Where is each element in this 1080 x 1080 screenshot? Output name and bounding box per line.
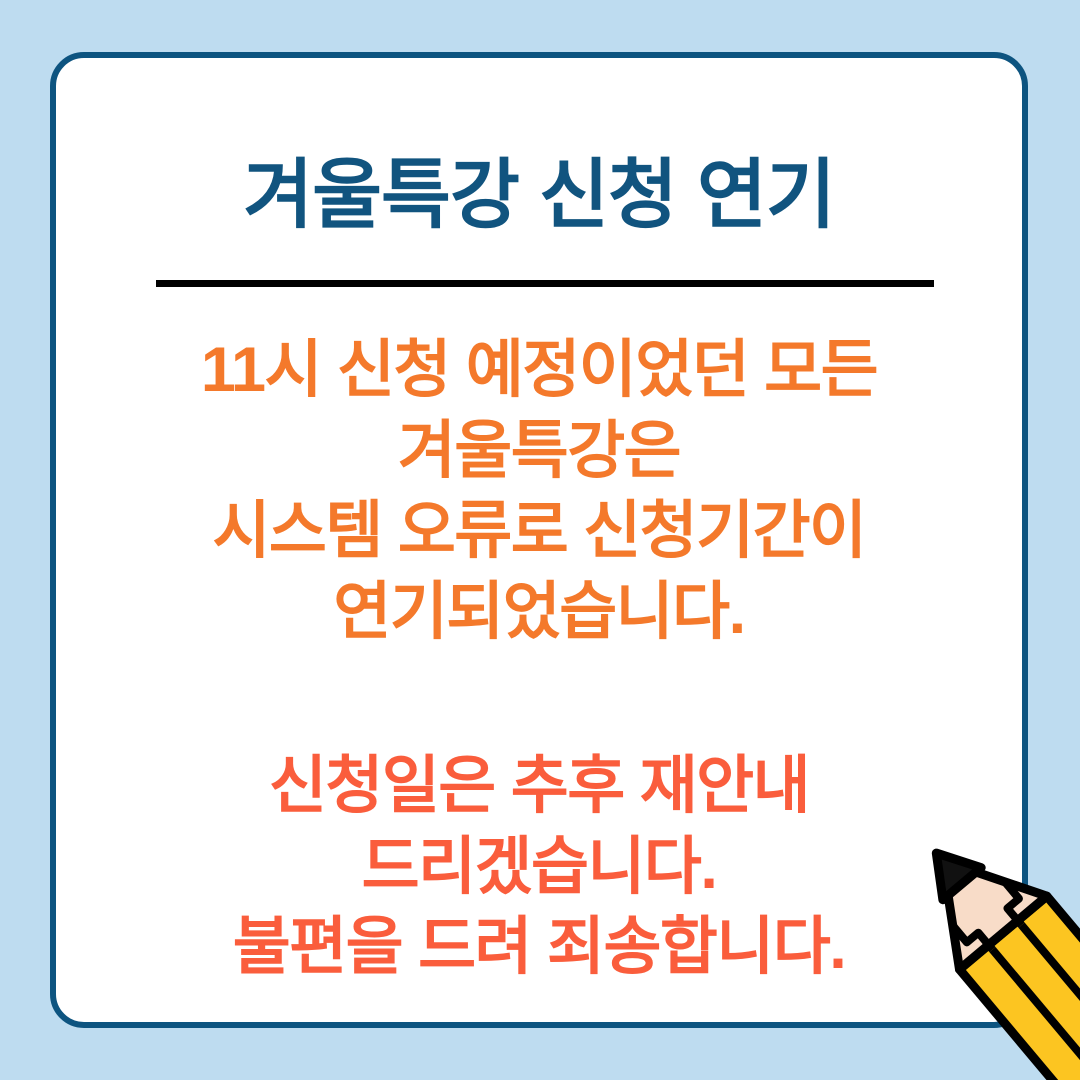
notice-line: 11시 신청 예정이었던 모든 — [56, 330, 1022, 411]
poster-canvas: 겨울특강 신청 연기 11시 신청 예정이었던 모든 겨울특강은 시스템 오류로… — [0, 0, 1080, 1080]
notice-paragraph-secondary: 신청일은 추후 재안내 드리겠습니다. 불편을 드려 죄송합니다. — [56, 746, 1022, 988]
notice-line: 신청일은 추후 재안내 — [56, 746, 1022, 827]
notice-line: 드리겠습니다. — [56, 827, 1022, 908]
notice-line: 연기되었습니다. — [56, 572, 1022, 653]
notice-line: 겨울특강은 — [56, 411, 1022, 492]
title-divider — [156, 280, 934, 287]
notice-paragraph-primary: 11시 신청 예정이었던 모든 겨울특강은 시스템 오류로 신청기간이 연기되었… — [56, 330, 1022, 653]
notice-line: 불편을 드려 죄송합니다. — [56, 907, 1022, 988]
notice-line: 시스템 오류로 신청기간이 — [56, 491, 1022, 572]
notice-card: 겨울특강 신청 연기 11시 신청 예정이었던 모든 겨울특강은 시스템 오류로… — [50, 52, 1028, 1028]
page-title: 겨울특강 신청 연기 — [56, 158, 1022, 234]
